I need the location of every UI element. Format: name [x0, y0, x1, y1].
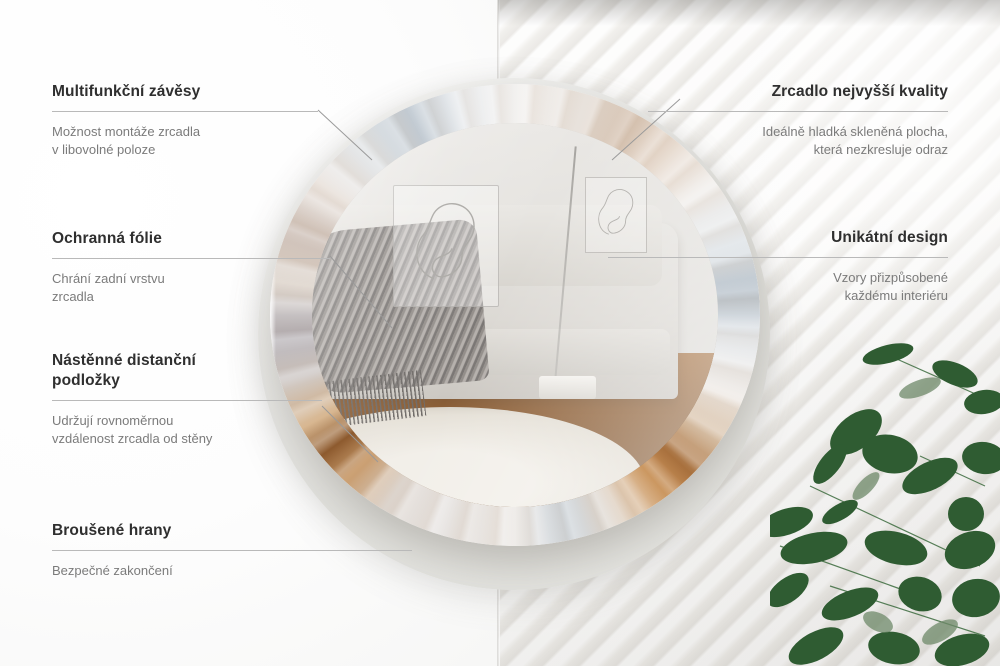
callout-rule: [608, 257, 948, 258]
callout-description: Ideálně hladká skleněná plocha, která ne…: [648, 123, 948, 160]
callout-title: Nástěnné distanční podložky: [52, 351, 322, 391]
callout-brousene-hrany: Broušené hrany Bezpečné zakončení: [52, 521, 412, 580]
callout-description: Vzory přizpůsobené každému interiéru: [608, 269, 948, 306]
callout-title: Unikátní design: [608, 228, 948, 248]
mirror-glass: [312, 123, 719, 506]
callout-unikatni-design: Unikátní design Vzory přizpůsobené každé…: [608, 228, 948, 306]
callout-rule: [52, 550, 412, 551]
glass-reflection-sheen: [312, 123, 719, 506]
callout-ochranna-folie: Ochranná fólie Chrání zadní vrstvu zrcad…: [52, 229, 330, 307]
callout-title: Broušené hrany: [52, 521, 412, 541]
callout-rule: [52, 111, 318, 112]
callout-nastenne-distancni-podlozky: Nástěnné distanční podložky Udržují rovn…: [52, 351, 322, 449]
top-shadow-gradient: [498, 0, 1000, 26]
foliage-decoration: [770, 336, 1000, 666]
callout-description: Chrání zadní vrstvu zrcadla: [52, 270, 330, 307]
callout-rule: [52, 258, 330, 259]
callout-zrcadlo-nejvyssi-kvality: Zrcadlo nejvyšší kvality Ideálně hladká …: [648, 82, 948, 160]
callout-title: Zrcadlo nejvyšší kvality: [648, 82, 948, 102]
callout-description: Udržují rovnoměrnou vzdálenost zrcadla o…: [52, 412, 322, 449]
product-infographic: Multifunkční závěsy Možnost montáže zrca…: [0, 0, 1000, 666]
callout-rule: [648, 111, 948, 112]
callout-description: Možnost montáže zrcadla v libovolné polo…: [52, 123, 318, 160]
callout-multifunkcni-zavesy: Multifunkční závěsy Možnost montáže zrca…: [52, 82, 318, 160]
callout-description: Bezpečné zakončení: [52, 562, 412, 580]
callout-rule: [52, 400, 322, 401]
callout-title: Multifunkční závěsy: [52, 82, 318, 102]
leaves-illustration: [770, 336, 1000, 666]
callout-title: Ochranná fólie: [52, 229, 330, 249]
